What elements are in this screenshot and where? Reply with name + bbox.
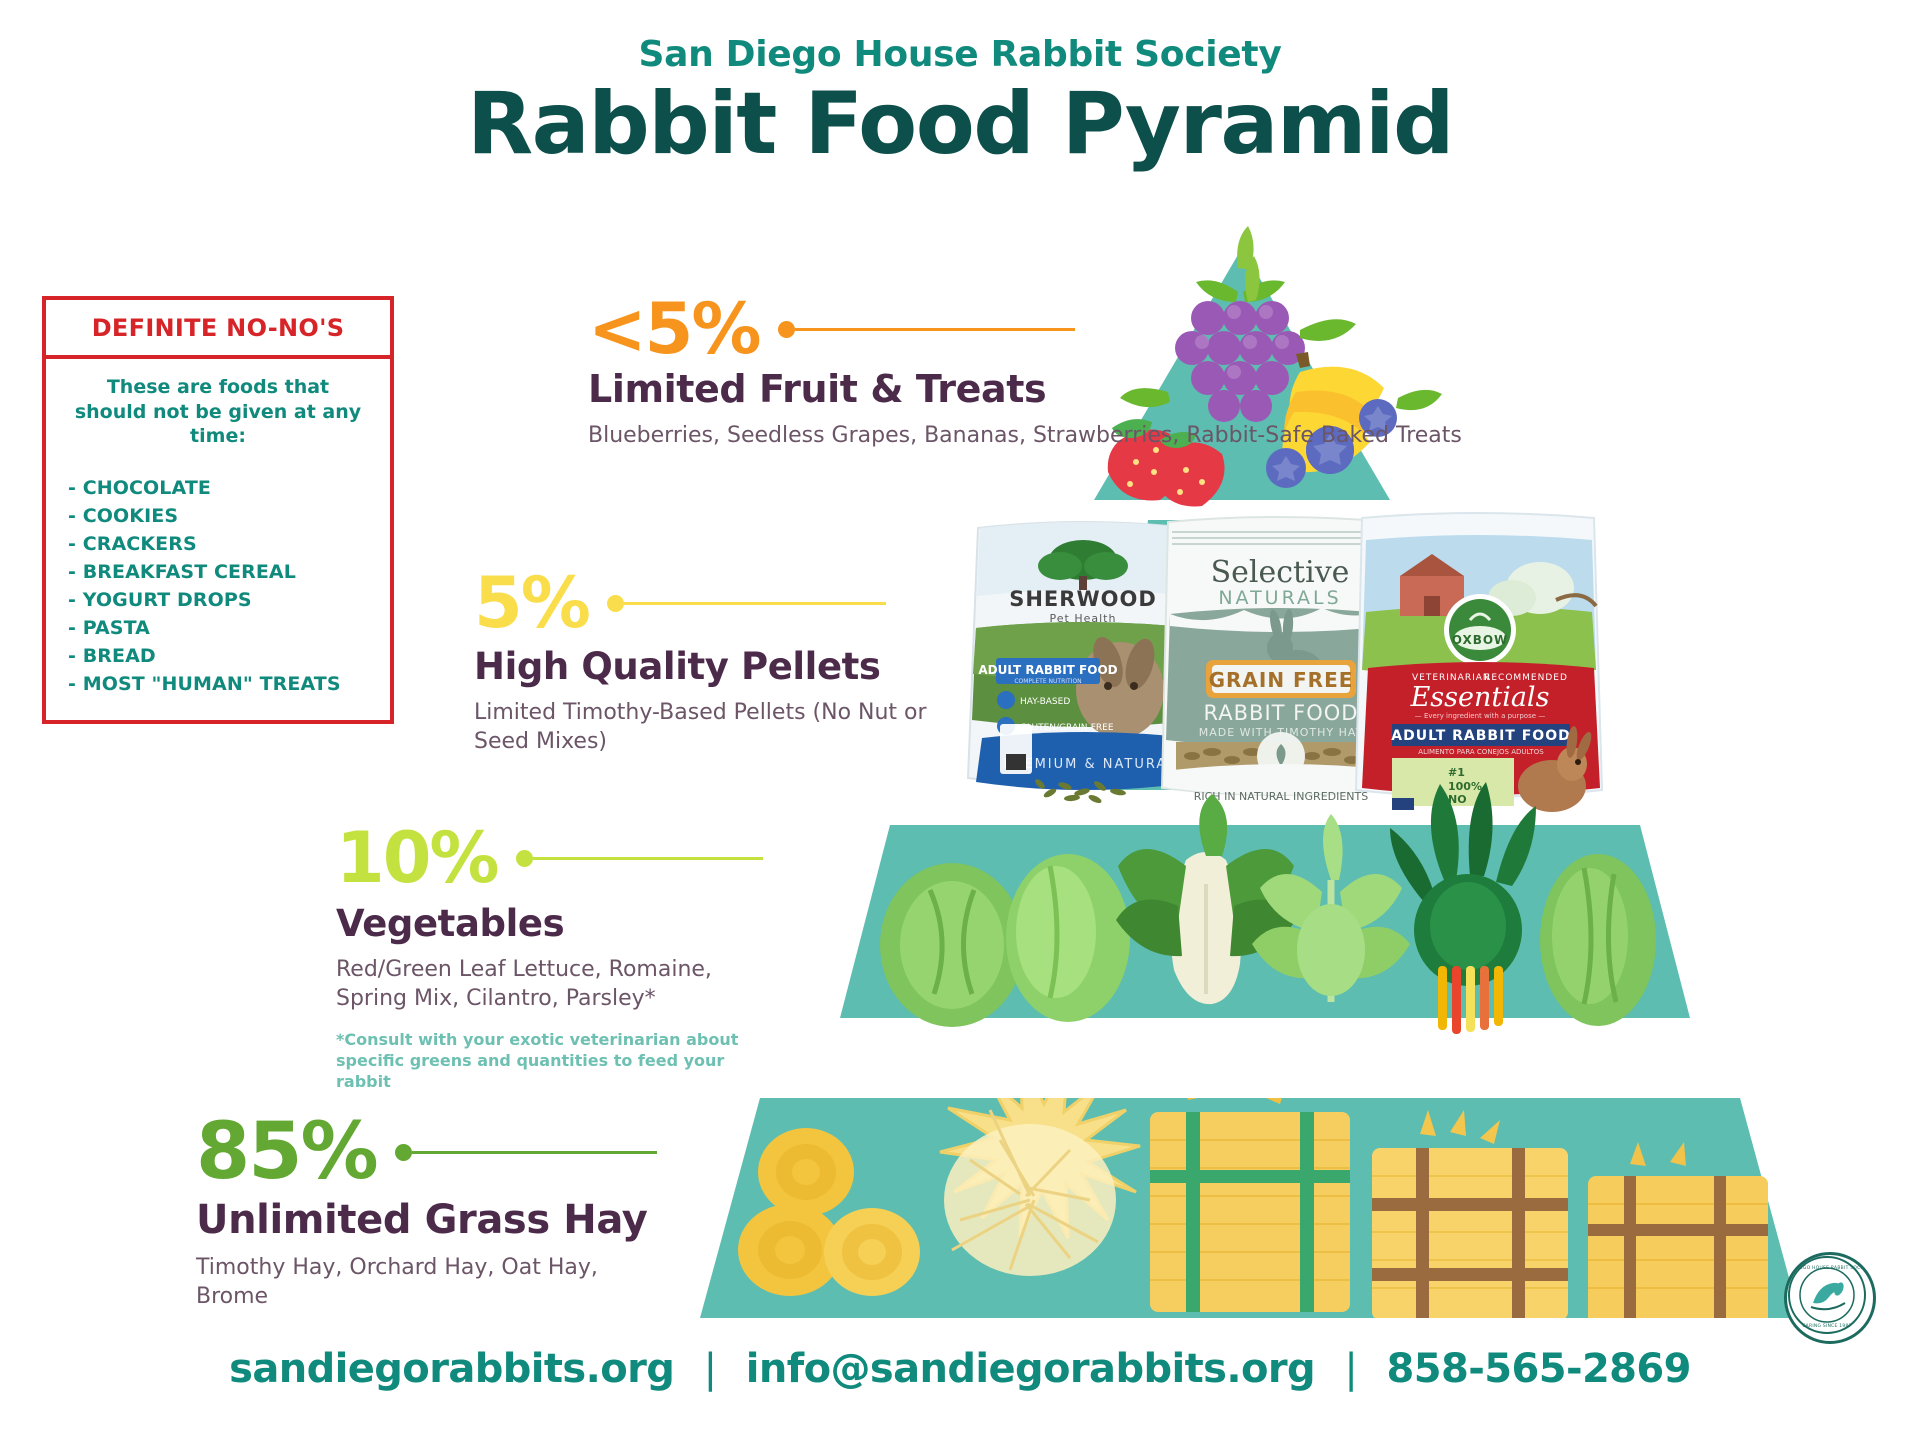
tier-unlimited-grass-hay: 85% Unlimited Grass Hay Timothy Hay, Orc…	[196, 1115, 756, 1311]
svg-text:Pet Health: Pet Health	[1050, 612, 1117, 625]
fruit-connector	[778, 321, 1075, 338]
list-item: - MOST "HUMAN" TREATS	[68, 671, 372, 699]
svg-text:COMPLETE NUTRITION: COMPLETE NUTRITION	[1014, 678, 1081, 685]
organization-logo: SAN DIEGO HOUSE RABBIT SOCIETY CARING SI…	[1784, 1252, 1876, 1344]
hay-connector	[395, 1144, 657, 1161]
header: San Diego House Rabbit Society Rabbit Fo…	[0, 34, 1920, 169]
footer-separator: |	[1344, 1346, 1357, 1392]
no-nos-list: - CHOCOLATE - COOKIES - CRACKERS - BREAK…	[64, 475, 372, 698]
definite-no-nos-box: DEFINITE NO-NO'S These are foods that sh…	[42, 296, 394, 724]
svg-text:RABBIT FOOD: RABBIT FOOD	[1204, 701, 1359, 725]
hay-percent-row: 85%	[196, 1115, 756, 1189]
connector-dot-icon	[778, 321, 795, 338]
svg-text:SHERWOOD: SHERWOOD	[1009, 587, 1157, 611]
vegetables-illustration	[880, 782, 1656, 1034]
connector-line	[533, 857, 763, 860]
connector-dot-icon	[607, 595, 624, 612]
fruit-percent: <5%	[588, 296, 760, 363]
pellets-percent: 5%	[474, 570, 589, 637]
no-nos-title: DEFINITE NO-NO'S	[92, 314, 345, 342]
vegetables-description: Red/Green Leaf Lettuce, Romaine, Spring …	[336, 955, 766, 1013]
svg-text:100%: 100%	[1448, 780, 1482, 793]
pellets-title: High Quality Pellets	[474, 645, 1014, 688]
connector-line	[624, 602, 886, 605]
svg-text:Selective: Selective	[1211, 555, 1350, 590]
list-item: - CRACKERS	[68, 531, 372, 559]
svg-text:OXBOW: OXBOW	[1452, 633, 1509, 647]
list-item: - PASTA	[68, 615, 372, 643]
svg-text:GRAIN FREE: GRAIN FREE	[1209, 668, 1354, 692]
list-item: - YOGURT DROPS	[68, 587, 372, 615]
organization-name: San Diego House Rabbit Society	[0, 34, 1920, 75]
pellet-bags-illustration: SHERWOOD Pet Health ADULT RABBIT FOOD CO…	[968, 513, 1602, 812]
fruit-title: Limited Fruit & Treats	[588, 367, 1108, 411]
fruit-description: Blueberries, Seedless Grapes, Bananas, S…	[588, 421, 1108, 450]
no-nos-subtitle: These are foods that should not be given…	[64, 375, 372, 449]
vegetables-percent: 10%	[336, 825, 498, 892]
svg-text:NATURALS: NATURALS	[1218, 587, 1341, 609]
vegetables-footnote: *Consult with your exotic veterinarian a…	[336, 1029, 756, 1092]
fruit-tier-band	[1094, 248, 1390, 500]
svg-text:VETERINARIAN: VETERINARIAN	[1412, 673, 1491, 683]
connector-dot-icon	[516, 850, 533, 867]
vegetables-tier-band	[840, 825, 1690, 1018]
svg-text:#1: #1	[1448, 766, 1465, 779]
hay-illustration	[738, 1056, 1768, 1326]
connector-line	[795, 328, 1075, 331]
pellets-tier-band	[1032, 512, 1452, 800]
pellets-connector	[607, 595, 886, 612]
pellets-description: Limited Timothy-Based Pellets (No Nut or…	[474, 698, 944, 756]
footer-website[interactable]: sandiegorabbits.org	[229, 1346, 674, 1392]
svg-text:MADE WITH TIMOTHY HAY: MADE WITH TIMOTHY HAY	[1199, 726, 1364, 739]
svg-text:RICH IN NATURAL INGREDIENTS: RICH IN NATURAL INGREDIENTS	[1194, 790, 1369, 803]
tier-high-quality-pellets: 5% High Quality Pellets Limited Timothy-…	[474, 570, 1014, 756]
list-item: - BREAD	[68, 643, 372, 671]
pellets-percent-row: 5%	[474, 570, 1014, 637]
connector-dot-icon	[395, 1144, 412, 1161]
page-title: Rabbit Food Pyramid	[0, 81, 1920, 169]
svg-text:GLUTEN/GRAIN-FREE: GLUTEN/GRAIN-FREE	[1020, 723, 1114, 733]
hay-description: Timothy Hay, Orchard Hay, Oat Hay, Brome	[196, 1253, 616, 1311]
svg-text:ALIMENTO PARA CONEJOS ADULTOS: ALIMENTO PARA CONEJOS ADULTOS	[1418, 748, 1544, 756]
hay-percent: 85%	[196, 1115, 377, 1189]
svg-text:PREMIUM & NATURAL: PREMIUM & NATURAL	[1004, 757, 1177, 772]
connector-line	[412, 1151, 657, 1154]
list-item: - COOKIES	[68, 503, 372, 531]
svg-text:SOY-FREE: SOY-FREE	[1020, 749, 1063, 759]
tier-limited-fruit-and-treats: <5% Limited Fruit & Treats Blueberries, …	[588, 296, 1108, 450]
svg-text:RECOMMENDED: RECOMMENDED	[1484, 673, 1568, 683]
list-item: - BREAKFAST CEREAL	[68, 559, 372, 587]
vegetables-connector	[516, 850, 763, 867]
no-nos-header: DEFINITE NO-NO'S	[46, 300, 390, 359]
fruit-illustration	[1108, 226, 1442, 506]
list-item: - CHOCOLATE	[68, 475, 372, 503]
svg-text:NO: NO	[1448, 793, 1467, 806]
tier-vegetables: 10% Vegetables Red/Green Leaf Lettuce, R…	[336, 825, 856, 1092]
no-nos-body: These are foods that should not be given…	[46, 359, 390, 720]
svg-text:— NO CORN & NO WHEAT —: — NO CORN & NO WHEAT —	[1202, 776, 1359, 789]
svg-text:SAN DIEGO HOUSE RABBIT SOCIETY: SAN DIEGO HOUSE RABBIT SOCIETY	[1787, 1265, 1867, 1271]
svg-text:— Every ingredient with a purp: — Every ingredient with a purpose —	[1415, 712, 1546, 720]
footer-contact: sandiegorabbits.org | info@sandiegorabbi…	[0, 1346, 1920, 1392]
vegetables-percent-row: 10%	[336, 825, 856, 892]
footer-phone[interactable]: 858-565-2869	[1387, 1346, 1691, 1392]
svg-text:Essentials: Essentials	[1410, 682, 1550, 713]
fruit-percent-row: <5%	[588, 296, 1108, 363]
svg-text:HAY-BASED: HAY-BASED	[1020, 697, 1070, 707]
hay-tier-band	[700, 1098, 1800, 1318]
vegetables-title: Vegetables	[336, 902, 856, 945]
hay-title: Unlimited Grass Hay	[196, 1197, 756, 1243]
svg-text:CARING SINCE 1987: CARING SINCE 1987	[1802, 1323, 1851, 1329]
footer-separator: |	[704, 1346, 717, 1392]
svg-text:ADULT RABBIT FOOD: ADULT RABBIT FOOD	[1391, 728, 1570, 744]
footer-email[interactable]: info@sandiegorabbits.org	[746, 1346, 1315, 1392]
